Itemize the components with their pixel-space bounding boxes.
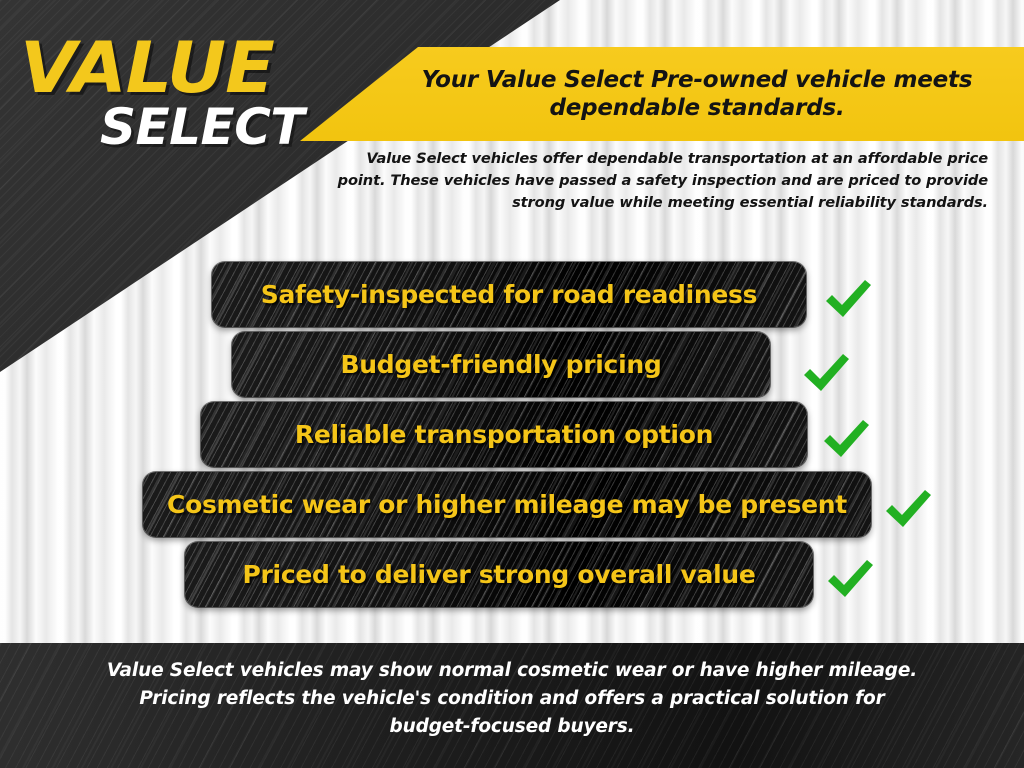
feature-label: Safety-inspected for road readiness (261, 280, 757, 309)
check-mark-icon (800, 350, 852, 396)
headline-banner: Your Value Select Pre-owned vehicle meet… (300, 47, 1024, 141)
brand-logo: VALUE SELECT (20, 36, 350, 152)
headline-text: Your Value Select Pre-owned vehicle meet… (300, 66, 1024, 122)
list-item: Budget-friendly pricing (0, 328, 1024, 398)
feature-label: Cosmetic wear or higher mileage may be p… (167, 490, 847, 519)
check-mark-icon (820, 416, 872, 462)
feature-pill: Reliable transportation option (201, 402, 807, 467)
feature-pill: Cosmetic wear or higher mileage may be p… (143, 472, 871, 537)
feature-label: Priced to deliver strong overall value (243, 560, 756, 589)
value-select-promo-poster: VALUE SELECT Your Value Select Pre-owned… (0, 0, 1024, 768)
list-item: Reliable transportation option (0, 398, 1024, 468)
feature-label: Budget-friendly pricing (341, 350, 662, 379)
list-item: Priced to deliver strong overall value (0, 538, 1024, 608)
disclaimer-text: Value Select vehicles may show normal co… (102, 657, 922, 740)
list-item: Cosmetic wear or higher mileage may be p… (0, 468, 1024, 538)
check-mark-icon (882, 486, 934, 532)
logo-word-select: SELECT (20, 102, 350, 152)
feature-pill: Budget-friendly pricing (232, 332, 770, 397)
list-item: Safety-inspected for road readiness (0, 258, 1024, 328)
check-mark-icon (824, 556, 876, 602)
intro-paragraph: Value Select vehicles offer dependable t… (328, 148, 988, 215)
feature-list: Safety-inspected for road readiness Budg… (0, 258, 1024, 608)
logo-word-value: VALUE (20, 36, 363, 100)
footer-bar: Value Select vehicles may show normal co… (0, 643, 1024, 768)
check-mark-icon (822, 276, 874, 322)
feature-pill: Priced to deliver strong overall value (185, 542, 813, 607)
feature-pill: Safety-inspected for road readiness (212, 262, 806, 327)
feature-label: Reliable transportation option (295, 420, 713, 449)
